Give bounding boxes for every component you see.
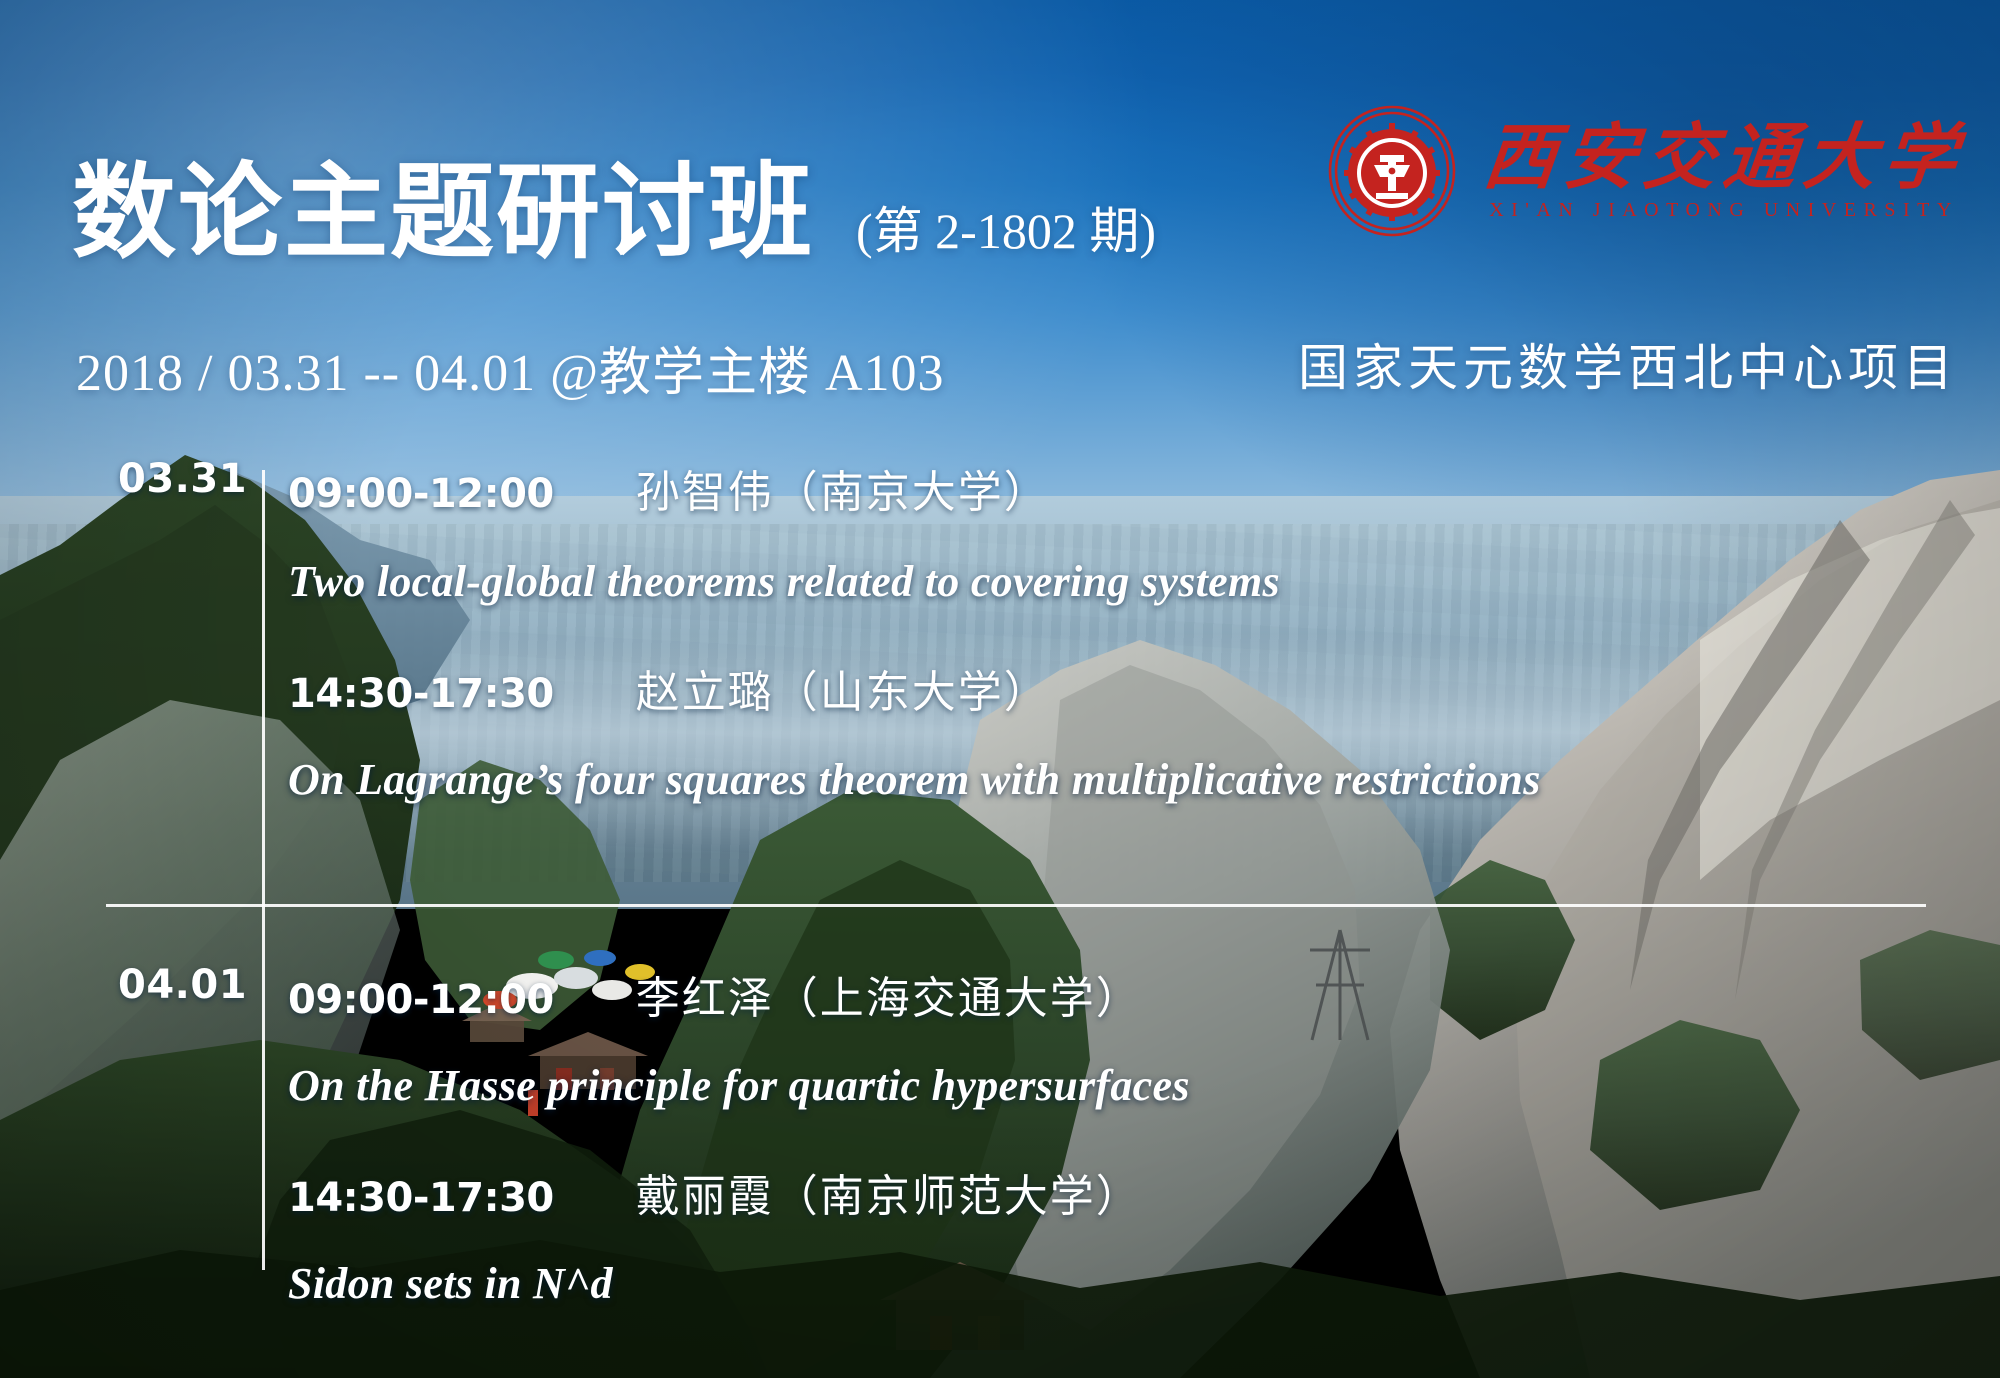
session-talk-title: Sidon sets in N^d: [288, 1258, 613, 1309]
session-talk-title: On the Hasse principle for quartic hyper…: [288, 1060, 1190, 1111]
university-logo: 西安交通大学 XI'AN JIAOTONG UNIVERSITY: [1326, 105, 1964, 237]
schedule-day-date: 03.31: [118, 456, 247, 502]
page-title: 数论主题研讨班: [72, 160, 814, 264]
seminar-poster: 数论主题研讨班 (第 2-1802 期) 2018 / 03.31 -- 04.…: [0, 0, 2000, 1378]
schedule-session-header: 14:30-17:30 戴丽霞（南京师范大学）: [288, 1160, 1142, 1224]
schedule-session-header: 09:00-12:00 李红泽（上海交通大学）: [288, 962, 1142, 1026]
session-speaker: 戴丽霞（南京师范大学）: [636, 1172, 1142, 1221]
session-talk-title: On Lagrange’s four squares theorem with …: [288, 754, 1541, 805]
session-speaker: 孙智伟（南京大学）: [636, 468, 1050, 517]
schedule-session-header: 09:00-12:00 孙智伟（南京大学）: [288, 456, 1050, 520]
schedule-vertical-divider: [262, 470, 265, 1270]
schedule-table: 03.31 09:00-12:00 孙智伟（南京大学） Two local-gl…: [0, 462, 2000, 1282]
session-time: 09:00-12:00: [288, 977, 554, 1023]
program-sponsor-label: 国家天元数学西北中心项目: [1298, 328, 1958, 400]
university-name-en: XI'AN JIAOTONG UNIVERSITY: [1489, 199, 1959, 222]
schedule-day-divider: [106, 904, 1926, 907]
logo-text-block: 西安交通大学 XI'AN JIAOTONG UNIVERSITY: [1484, 120, 1964, 223]
session-time: 09:00-12:00: [288, 471, 554, 517]
session-speaker: 李红泽（上海交通大学）: [636, 974, 1142, 1023]
schedule-day-date: 04.01: [118, 962, 247, 1008]
session-time: 14:30-17:30: [288, 671, 554, 717]
title-row: 数论主题研讨班 (第 2-1802 期): [72, 160, 1156, 264]
session-time: 14:30-17:30: [288, 1175, 554, 1221]
date-venue-line: 2018 / 03.31 -- 04.01 @教学主楼 A103: [76, 330, 945, 405]
session-speaker: 赵立璐（山东大学）: [636, 668, 1050, 717]
xjtu-seal-icon: [1326, 105, 1458, 237]
university-name-cn: 西安交通大学: [1480, 120, 1968, 196]
schedule-session-header: 14:30-17:30 赵立璐（山东大学）: [288, 656, 1050, 720]
issue-number: (第 2-1802 期): [856, 191, 1156, 263]
session-talk-title: Two local-global theorems related to cov…: [288, 556, 1280, 607]
